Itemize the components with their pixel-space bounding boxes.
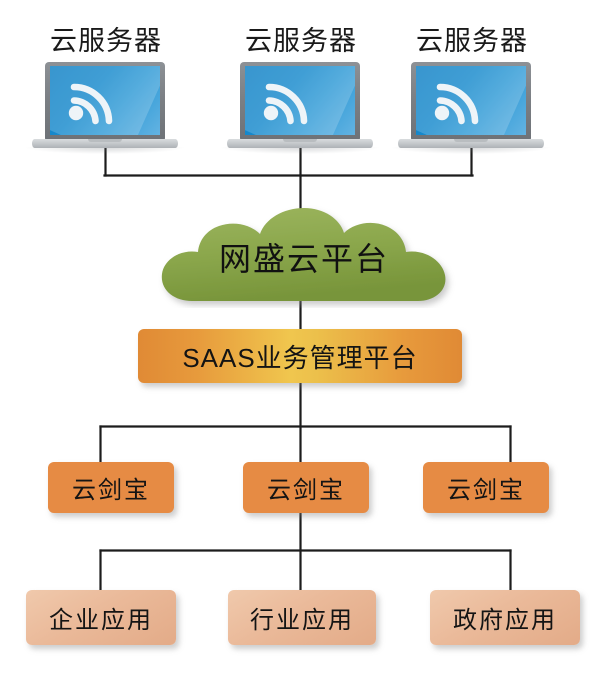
application-box-2[interactable]: 行业应用 — [228, 590, 376, 645]
product-label-1: 云剑宝 — [72, 470, 150, 505]
server-laptop-3 — [398, 62, 544, 154]
cloud-platform-label: 网盛云平台 — [148, 234, 460, 280]
wifi-signal-icon — [430, 75, 480, 125]
server-laptop-2 — [227, 62, 373, 154]
application-box-3[interactable]: 政府应用 — [430, 590, 580, 645]
server-laptop-1 — [32, 62, 178, 154]
product-box-2[interactable]: 云剑宝 — [243, 462, 369, 513]
application-label-3: 政府应用 — [453, 600, 557, 635]
product-label-3: 云剑宝 — [447, 470, 525, 505]
saas-platform-box[interactable]: SAAS业务管理平台 — [138, 329, 462, 383]
laptop-lid — [411, 62, 531, 140]
application-box-1[interactable]: 企业应用 — [26, 590, 176, 645]
server-label-2: 云服务器 — [227, 26, 375, 56]
laptop-lid — [240, 62, 360, 140]
server-label-3: 云服务器 — [398, 26, 546, 56]
laptop-screen — [50, 66, 160, 135]
laptop-desk-shadow — [221, 147, 379, 154]
application-label-2: 行业应用 — [250, 600, 354, 635]
application-label-1: 企业应用 — [49, 600, 153, 635]
laptop-base — [227, 139, 373, 148]
product-box-3[interactable]: 云剑宝 — [423, 462, 549, 513]
product-box-1[interactable]: 云剑宝 — [48, 462, 174, 513]
diagram-canvas: 云服务器 云服务器 — [0, 0, 600, 678]
saas-platform-label: SAAS业务管理平台 — [182, 338, 417, 375]
wifi-signal-icon — [64, 75, 114, 125]
laptop-desk-shadow — [392, 147, 550, 154]
laptop-base — [32, 139, 178, 148]
wifi-signal-icon — [259, 75, 309, 125]
product-label-2: 云剑宝 — [267, 470, 345, 505]
server-label-1: 云服务器 — [32, 26, 180, 56]
laptop-base — [398, 139, 544, 148]
cloud-platform-node[interactable]: 网盛云平台 — [148, 200, 460, 308]
laptop-lid — [45, 62, 165, 140]
laptop-screen — [416, 66, 526, 135]
laptop-desk-shadow — [26, 147, 184, 154]
laptop-screen — [245, 66, 355, 135]
